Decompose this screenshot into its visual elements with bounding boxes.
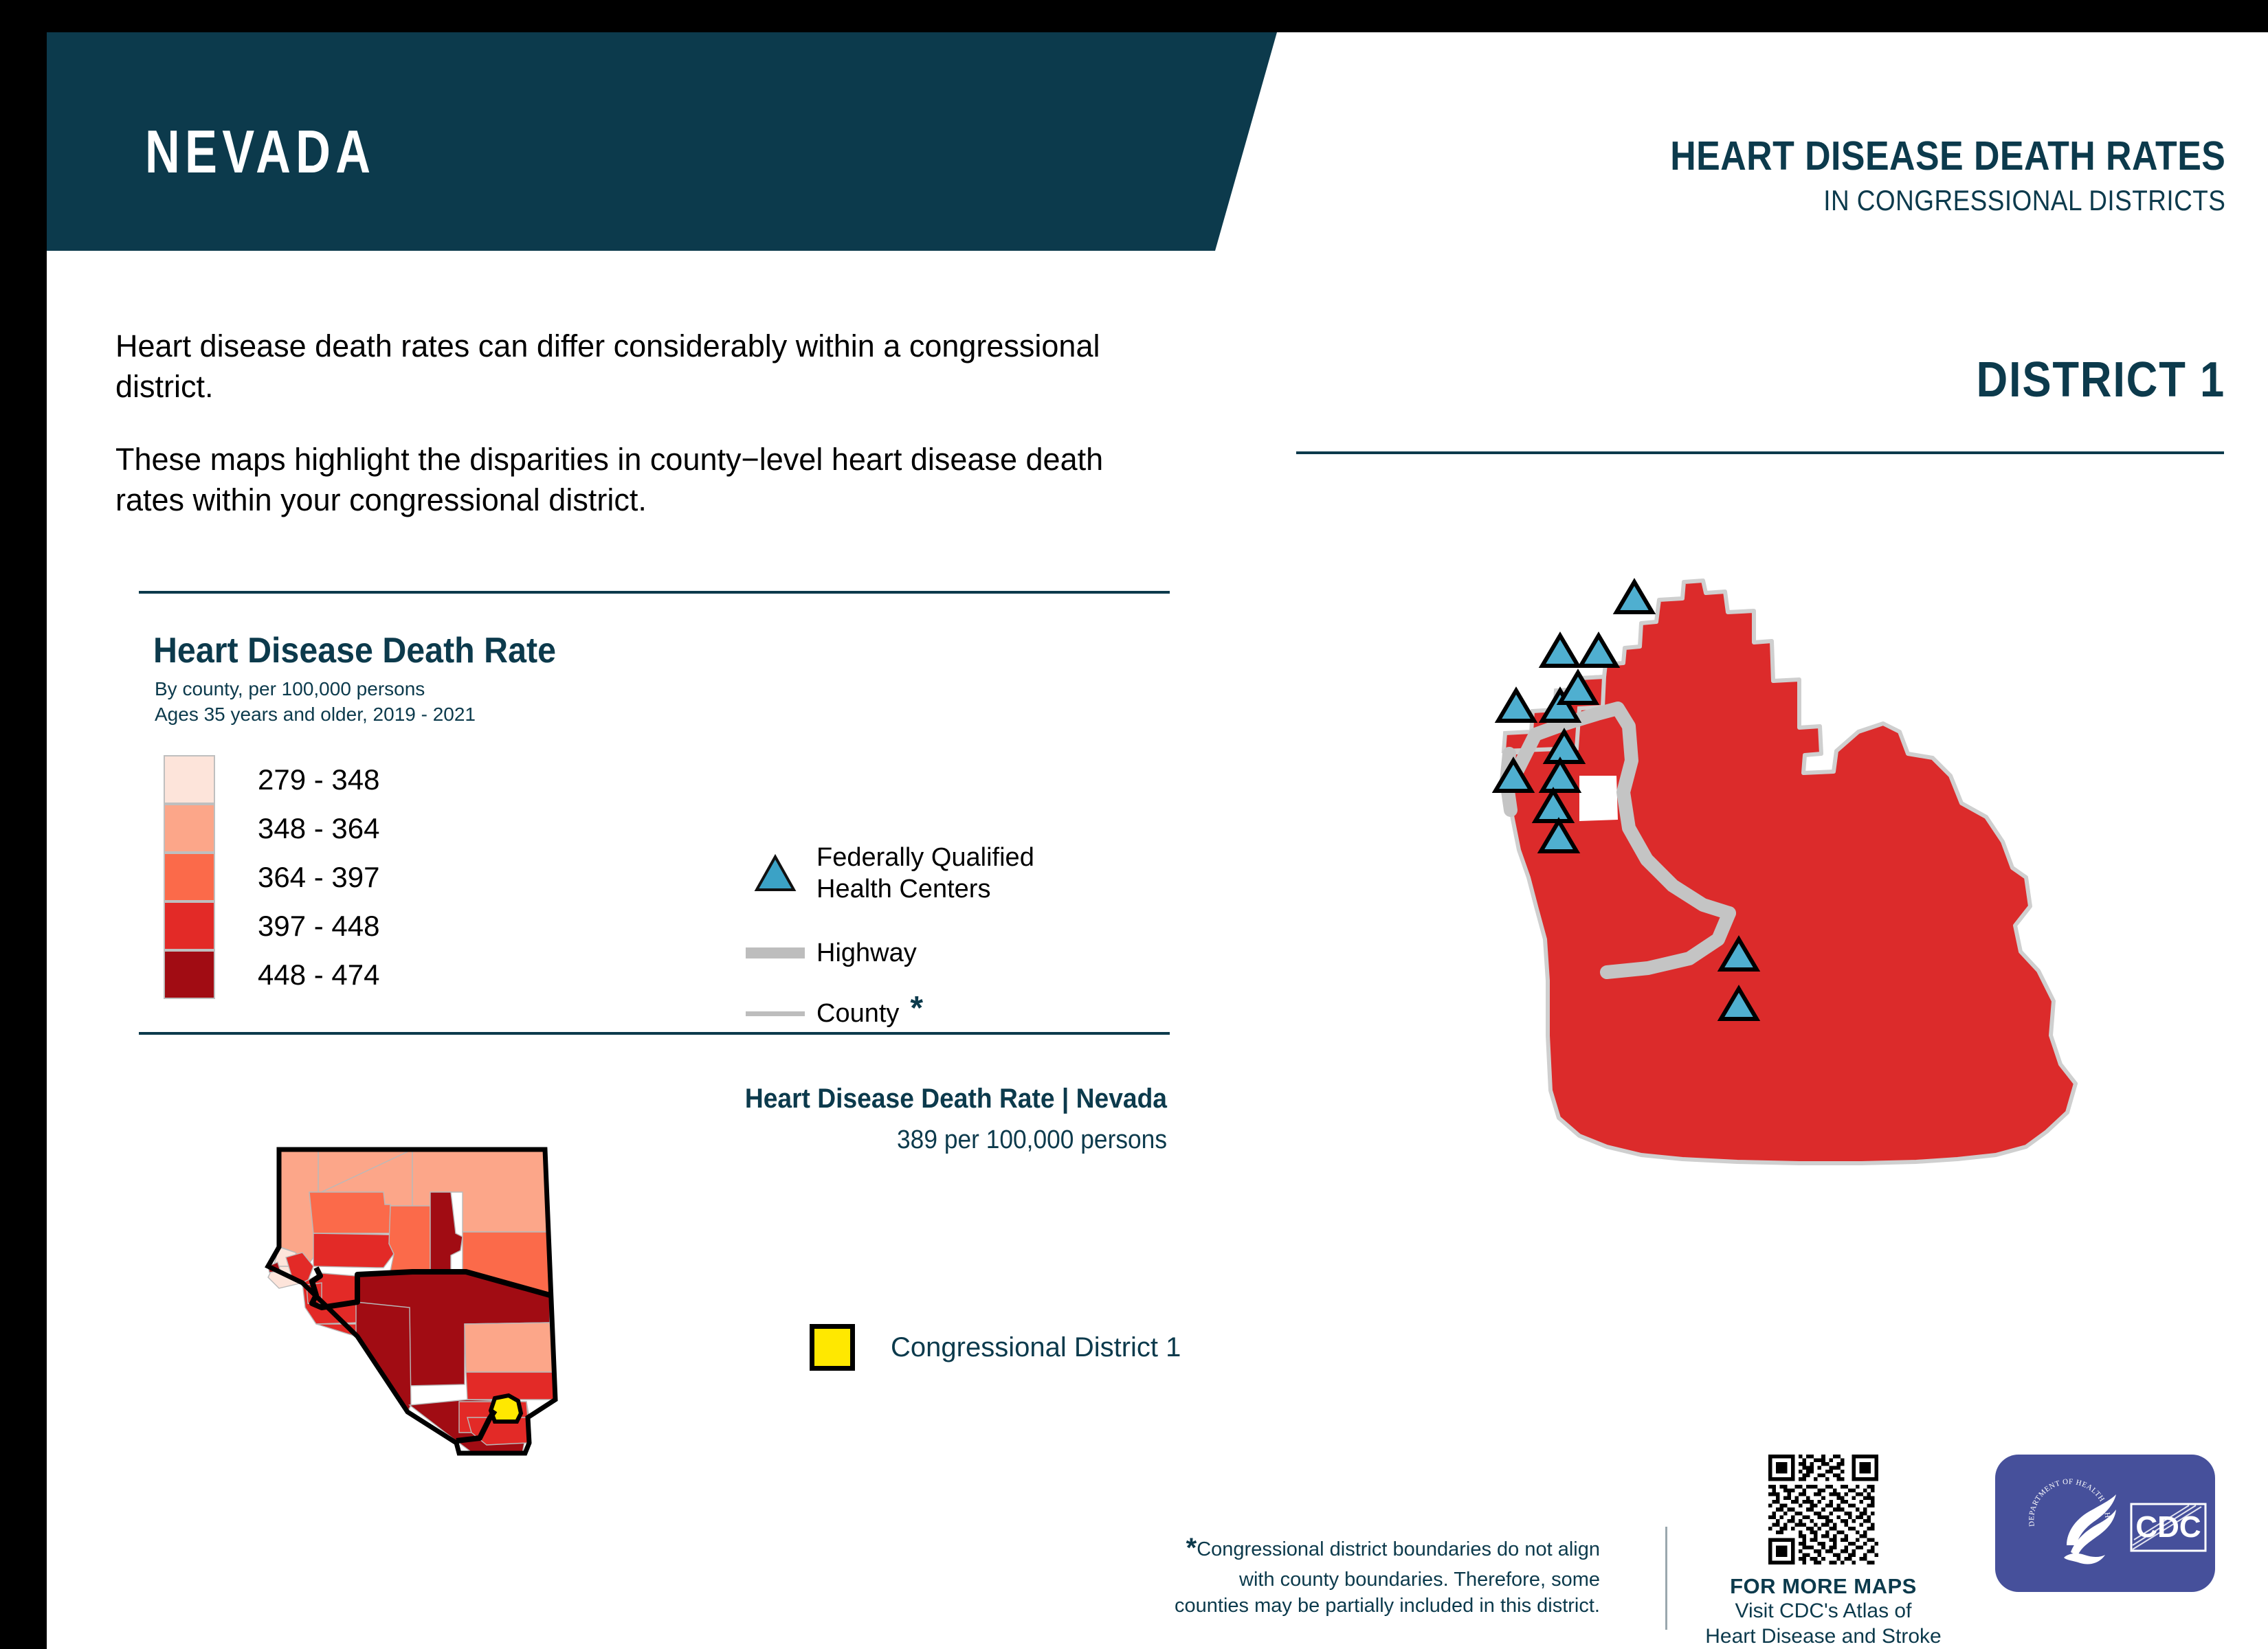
state-caption-title: Heart Disease Death Rate | Nevada (522, 1084, 1167, 1114)
header-title-group: HEART DISEASE DEATH RATES IN CONGRESSION… (1594, 135, 2225, 216)
poster-title: HEART DISEASE DEATH RATES (1670, 135, 2225, 177)
symbol-legend: Federally Qualified Health Centers Highw… (734, 842, 1034, 1033)
legend-class-row: 397 - 448 (164, 901, 379, 950)
district-legend: Congressional District 1 (810, 1324, 1181, 1371)
legend-swatch-1 (164, 804, 215, 853)
divider-below-legend (139, 1032, 1170, 1035)
state-choropleth-map (253, 1130, 583, 1615)
fqhc-marker (1498, 691, 1534, 721)
footer-divider (1665, 1527, 1667, 1630)
legend-title: Heart Disease Death Rate (153, 630, 556, 671)
county-asterisk: * (910, 989, 923, 1027)
legend-fqhc-line-2: Health Centers (816, 873, 1034, 905)
legend-subtitle-line-1: By county, per 100,000 persons (155, 677, 476, 702)
legend-class-row: 448 - 474 (164, 950, 379, 999)
fqhc-marker (1542, 636, 1578, 666)
fqhc-triangle-icon (734, 853, 816, 894)
county-line-icon (734, 1011, 816, 1016)
legend-fqhc-row: Federally Qualified Health Centers (734, 842, 1034, 906)
color-scale-legend: 279 - 348 348 - 364 364 - 397 397 - 448 … (164, 755, 379, 999)
district-title-rule (1296, 451, 2224, 454)
district-detail-map (1476, 554, 2164, 1245)
district-legend-label: Congressional District 1 (891, 1332, 1181, 1363)
footnote-asterisk: * (1186, 1533, 1197, 1563)
legend-fqhc-line-1: Federally Qualified (816, 842, 1034, 873)
legend-swatch-2 (164, 853, 215, 901)
footnote: *Congressional district boundaries do no… (1160, 1530, 1600, 1619)
intro-paragraph-2: These maps highlight the disparities in … (115, 440, 1160, 520)
hhs-cdc-logo: DEPARTMENT OF HEALTH & HUMAN SERVICES·US… (1995, 1455, 2215, 1592)
legend-class-row: 279 - 348 (164, 755, 379, 804)
footnote-text: Congressional district boundaries do not… (1175, 1538, 1600, 1617)
district-title: DISTRICT 1 (1942, 352, 2225, 408)
legend-label-0: 279 - 348 (258, 763, 379, 796)
legend-class-row: 348 - 364 (164, 804, 379, 853)
legend-county-label: County (816, 998, 899, 1029)
legend-fqhc-text: Federally Qualified Health Centers (816, 842, 1034, 906)
poster-root: NEVADA HEART DISEASE DEATH RATES IN CONG… (0, 0, 2268, 1649)
legend-highway-row: Highway (734, 937, 1034, 969)
legend-swatch-0 (164, 755, 215, 804)
more-maps-line-2: Heart Disease and Stroke (1686, 1624, 1961, 1649)
legend-label-3: 397 - 448 (258, 910, 379, 943)
district-legend-swatch (810, 1324, 855, 1371)
poster-page: NEVADA HEART DISEASE DEATH RATES IN CONG… (47, 32, 2268, 1649)
legend-county-row: County * (734, 995, 1034, 1033)
fqhc-marker (1616, 582, 1652, 612)
state-caption-value: 389 per 100,000 persons (522, 1125, 1167, 1155)
legend-swatch-3 (164, 901, 215, 950)
legend-subtitle-line-2: Ages 35 years and older, 2019 - 2021 (155, 702, 476, 728)
svg-text:CDC: CDC (2135, 1510, 2201, 1544)
qr-code[interactable] (1686, 1455, 1961, 1564)
divider-above-legend (139, 591, 1170, 594)
more-maps-title: FOR MORE MAPS (1686, 1574, 1961, 1599)
legend-subtitle: By county, per 100,000 persons Ages 35 y… (155, 677, 476, 728)
state-map-district-highlight (491, 1395, 521, 1422)
fqhc-marker (1581, 636, 1616, 666)
district-title-label: DISTRICT 1 (1976, 352, 2225, 408)
legend-class-row: 364 - 397 (164, 853, 379, 901)
state-name: NEVADA (145, 122, 375, 182)
more-maps-block[interactable]: FOR MORE MAPS Visit CDC's Atlas of Heart… (1686, 1455, 1961, 1649)
district-shape (1504, 581, 2076, 1163)
intro-text: Heart disease death rates can differ con… (115, 326, 1160, 520)
legend-label-2: 364 - 397 (258, 861, 379, 894)
legend-swatch-4 (164, 950, 215, 999)
poster-subtitle: IN CONGRESSIONAL DISTRICTS (1670, 186, 2225, 216)
highway-line-icon (734, 947, 816, 958)
more-maps-line-1: Visit CDC's Atlas of (1686, 1599, 1961, 1624)
legend-highway-label: Highway (816, 937, 917, 969)
intro-paragraph-1: Heart disease death rates can differ con… (115, 326, 1160, 407)
legend-label-4: 448 - 474 (258, 958, 379, 991)
legend-label-1: 348 - 364 (258, 812, 379, 845)
